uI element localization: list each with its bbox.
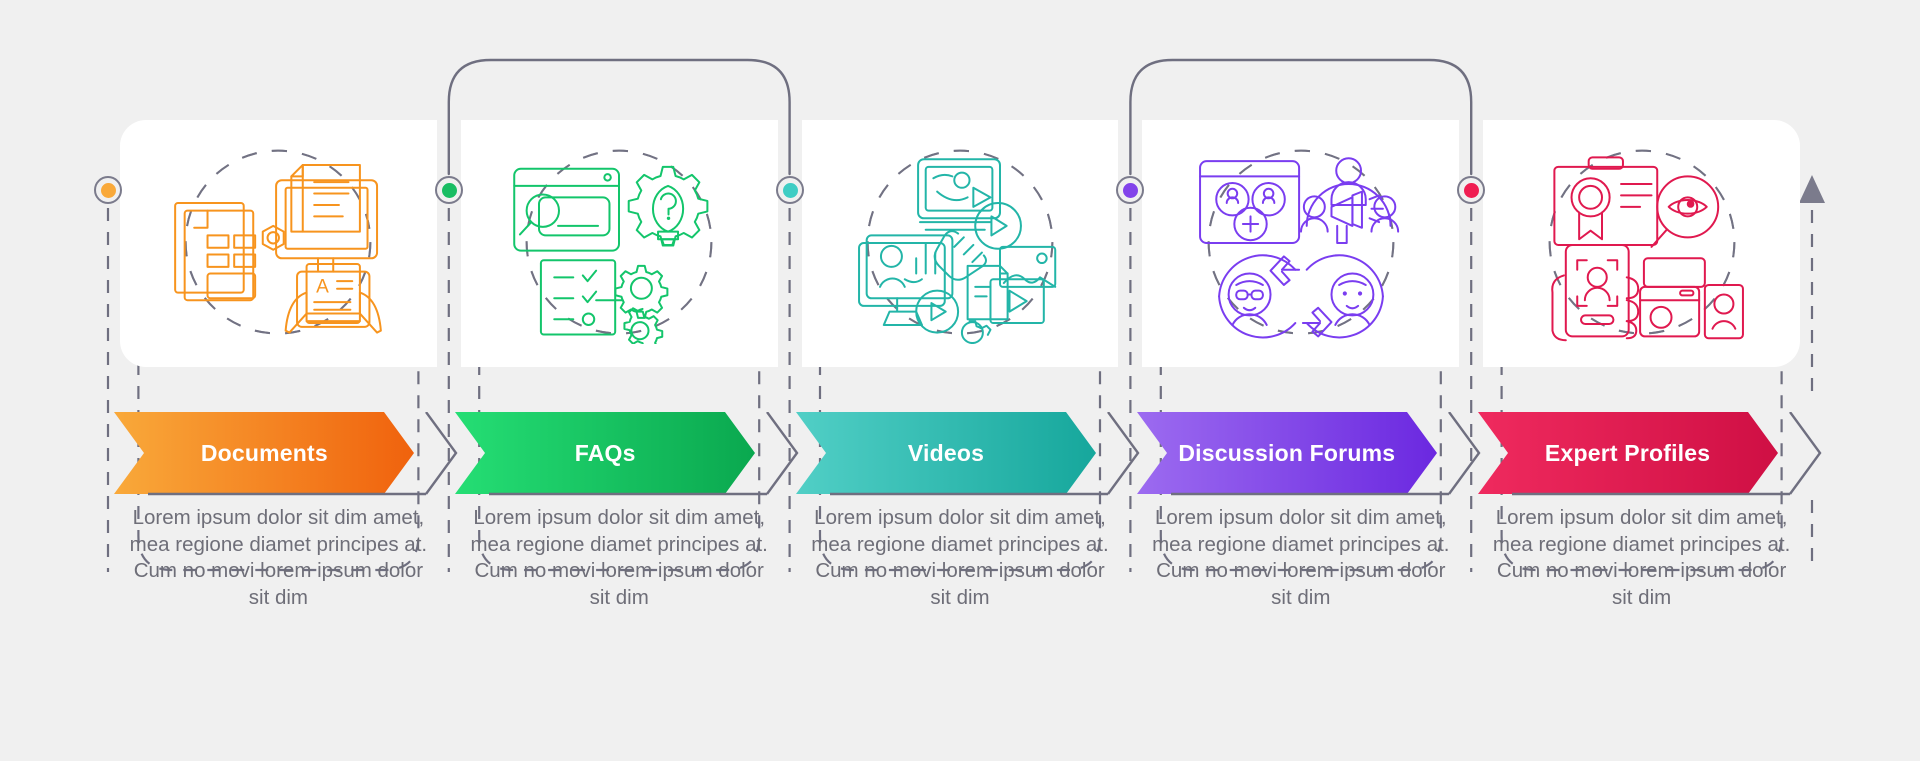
stage-dot-videos[interactable] — [776, 176, 804, 204]
stage-dot-core — [783, 183, 798, 198]
chevron-banner-videos[interactable]: Videos — [796, 412, 1156, 494]
icon-wrap-videos — [845, 144, 1075, 344]
description-faqs: Lorem ipsum dolor sit dim amet, mea regi… — [469, 505, 769, 611]
icon-card-strip: A — [120, 120, 1800, 367]
icon-wrap-expert-profiles — [1527, 144, 1757, 344]
stage-dot-expert-profiles[interactable] — [1457, 176, 1485, 204]
panel-gap — [1118, 120, 1142, 367]
chevron-label-faqs: FAQs — [455, 412, 755, 494]
svg-text:A: A — [316, 276, 329, 297]
description-videos: Lorem ipsum dolor sit dim amet, mea regi… — [810, 505, 1110, 611]
icon-wrap-documents: A — [163, 144, 393, 344]
icon-wrap-discussion-forums — [1186, 144, 1416, 344]
chevron-banner-faqs[interactable]: FAQs — [455, 412, 815, 494]
panel-gap — [778, 120, 802, 367]
chevron-label-documents: Documents — [114, 412, 414, 494]
chevron-banner-expert-profiles[interactable]: Expert Profiles — [1478, 412, 1838, 494]
panel-gap — [1459, 120, 1483, 367]
chevron-label-expert-profiles: Expert Profiles — [1478, 412, 1778, 494]
chevron-banner-discussion-forums[interactable]: Discussion Forums — [1137, 412, 1497, 494]
stage-dot-discussion-forums[interactable] — [1116, 176, 1144, 204]
icon-wrap-faqs — [504, 144, 734, 344]
description-row: Lorem ipsum dolor sit dim amet, mea regi… — [0, 505, 1920, 635]
chevron-label-videos: Videos — [796, 412, 1096, 494]
description-expert-profiles: Lorem ipsum dolor sit dim amet, mea regi… — [1492, 505, 1792, 611]
infographic-canvas: A — [0, 0, 1920, 761]
stage-dot-faqs[interactable] — [435, 176, 463, 204]
icon-panel-discussion-forums[interactable] — [1142, 120, 1459, 367]
chevron-banner-documents[interactable]: Documents — [114, 412, 474, 494]
icon-panel-faqs[interactable] — [461, 120, 778, 367]
description-discussion-forums: Lorem ipsum dolor sit dim amet, mea regi… — [1151, 505, 1451, 611]
icon-panel-videos[interactable] — [802, 120, 1119, 367]
icon-panel-expert-profiles[interactable] — [1483, 120, 1800, 367]
chevron-banner-row: Documents FAQs Videos — [0, 412, 1920, 494]
chevron-label-discussion-forums: Discussion Forums — [1137, 412, 1437, 494]
connector-lines-layer — [0, 0, 1920, 761]
panel-gap — [437, 120, 461, 367]
stage-dot-documents[interactable] — [94, 176, 122, 204]
stage-dot-core — [101, 183, 116, 198]
description-documents: Lorem ipsum dolor sit dim amet, mea regi… — [128, 505, 428, 611]
up-triangle-marker — [1799, 175, 1825, 203]
stage-dot-core — [442, 183, 457, 198]
icon-panel-documents[interactable]: A — [120, 120, 437, 367]
